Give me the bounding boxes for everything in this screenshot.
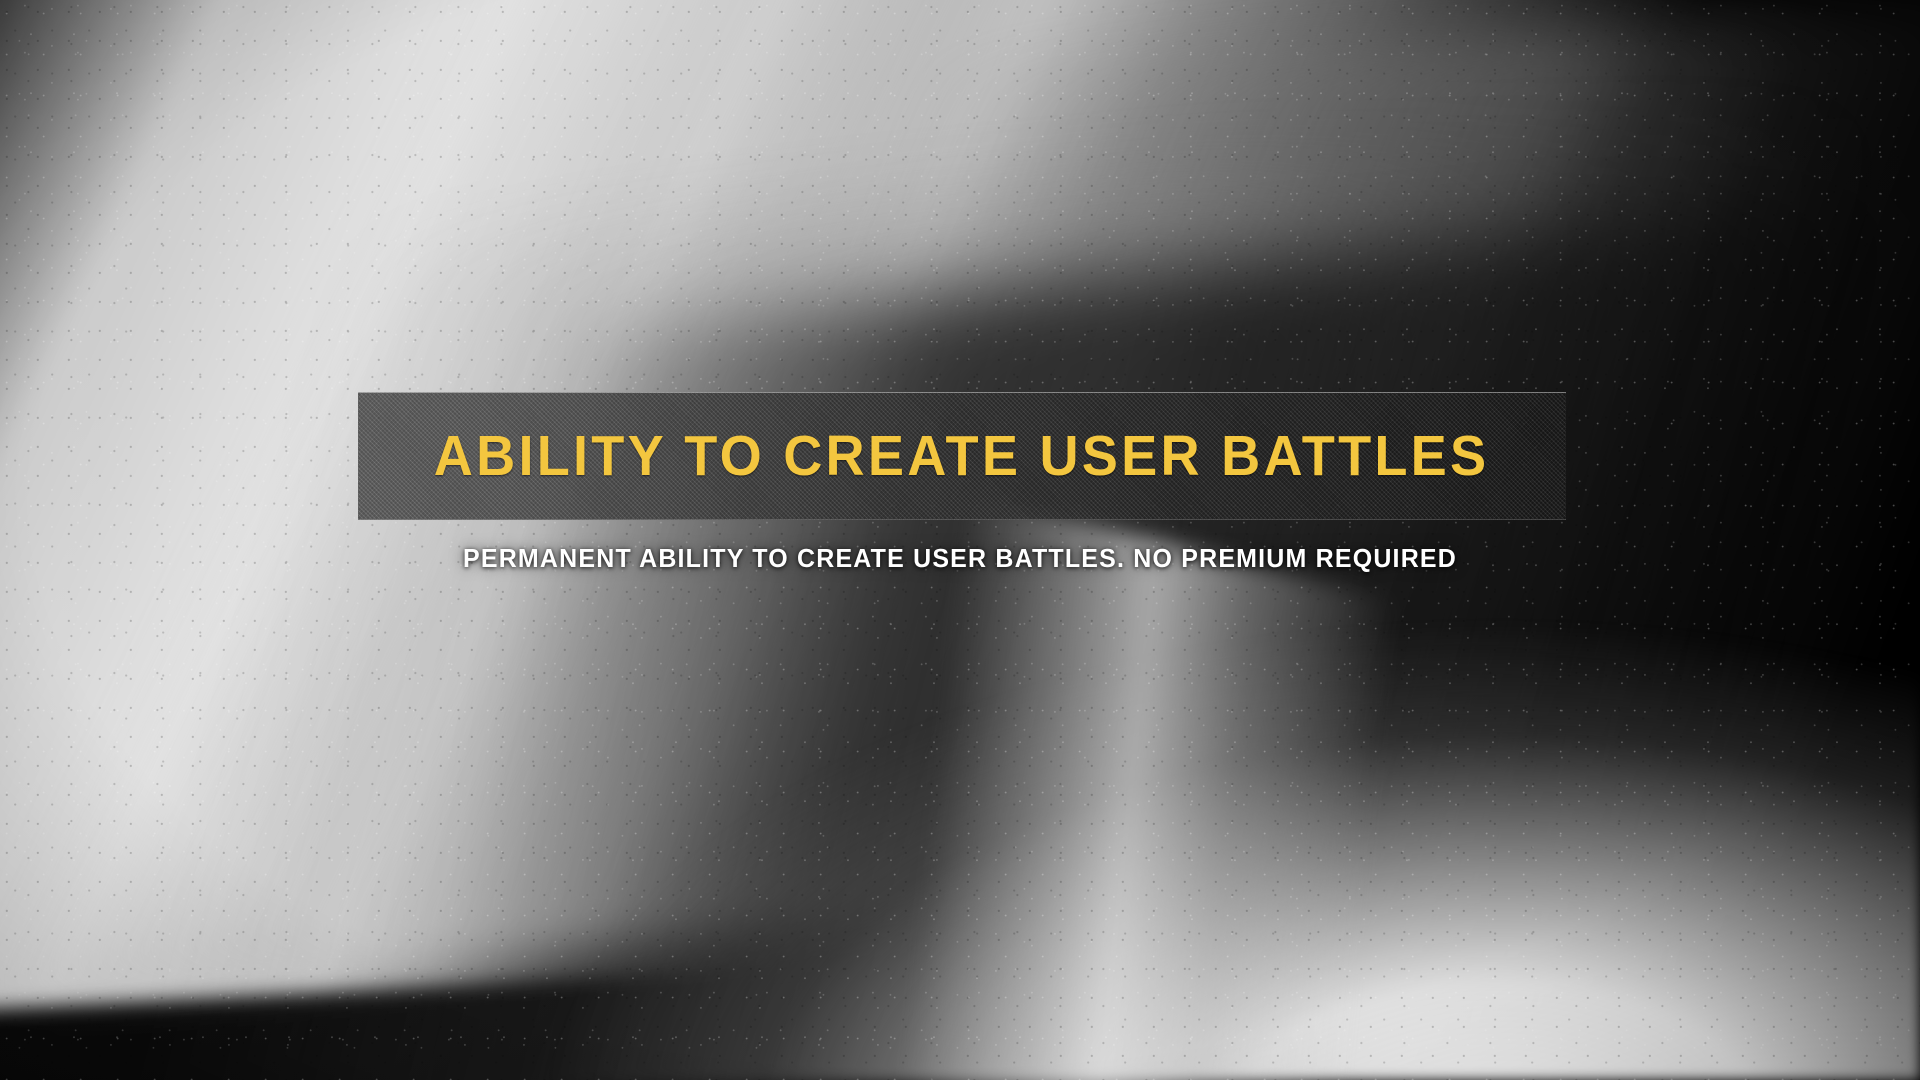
- title-banner: ABILITY TO CREATE USER BATTLES: [358, 392, 1566, 520]
- subtitle: PERMANENT ABILITY TO CREATE USER BATTLES…: [38, 543, 1881, 574]
- promo-slide: ABILITY TO CREATE USER BATTLES PERMANENT…: [0, 0, 1920, 1080]
- page-title: ABILITY TO CREATE USER BATTLES: [434, 428, 1490, 485]
- slide-content: ABILITY TO CREATE USER BATTLES PERMANENT…: [0, 0, 1920, 1080]
